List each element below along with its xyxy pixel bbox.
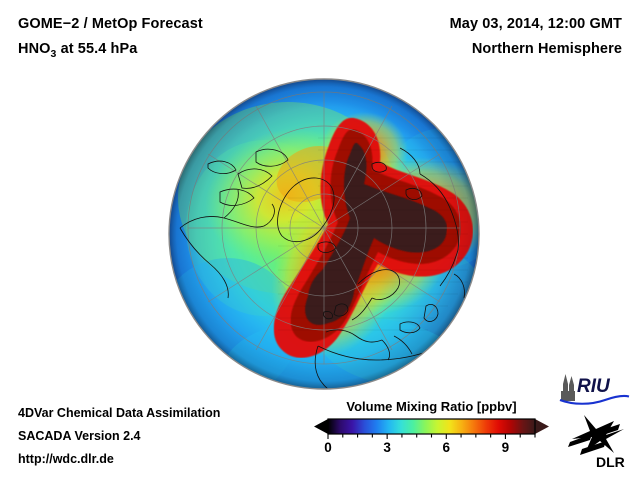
header-title-species: HNO3 at 55.4 hPa (18, 37, 203, 67)
colorbar-title: Volume Mixing Ratio [ppbv] (312, 399, 551, 414)
footer-line-url: http://wdc.dlr.de (18, 448, 220, 471)
colorbar: Volume Mixing Ratio [ppbv] 0369 (310, 399, 555, 457)
dlr-wordmark: DLR (596, 454, 625, 470)
header-datetime: May 03, 2014, 12:00 GMT (450, 12, 622, 37)
footer-credits: 4DVar Chemical Data Assimilation SACADA … (18, 402, 220, 471)
footer-line-method: 4DVar Chemical Data Assimilation (18, 402, 220, 425)
header-right: May 03, 2014, 12:00 GMT Northern Hemisph… (450, 12, 622, 62)
colorbar-tick-label: 3 (383, 440, 391, 455)
riu-wordmark: RIU (577, 376, 611, 397)
colorbar-tick-label: 9 (502, 440, 510, 455)
colorbar-tick-labels: 0369 (312, 440, 551, 457)
colorbar-gradient (328, 419, 535, 434)
globe-map (168, 78, 480, 390)
header-left: GOME−2 / MetOp Forecast HNO3 at 55.4 hPa (18, 12, 203, 67)
colorbar-over-arrow (535, 419, 549, 434)
colorbar-tick-label: 0 (324, 440, 332, 455)
dlr-emblem-icon (568, 415, 624, 455)
colorbar-ticks (328, 434, 535, 439)
cathedral-icon (561, 374, 575, 401)
header-title-instrument: GOME−2 / MetOp Forecast (18, 12, 203, 37)
footer-line-version: SACADA Version 2.4 (18, 425, 220, 448)
colorbar-graphic (312, 418, 551, 439)
header-region: Northern Hemisphere (450, 37, 622, 62)
colorbar-tick-label: 6 (443, 440, 451, 455)
colorbar-under-arrow (314, 419, 328, 434)
dlr-logo: DLR (566, 409, 632, 471)
riu-logo: RIU (557, 371, 631, 405)
